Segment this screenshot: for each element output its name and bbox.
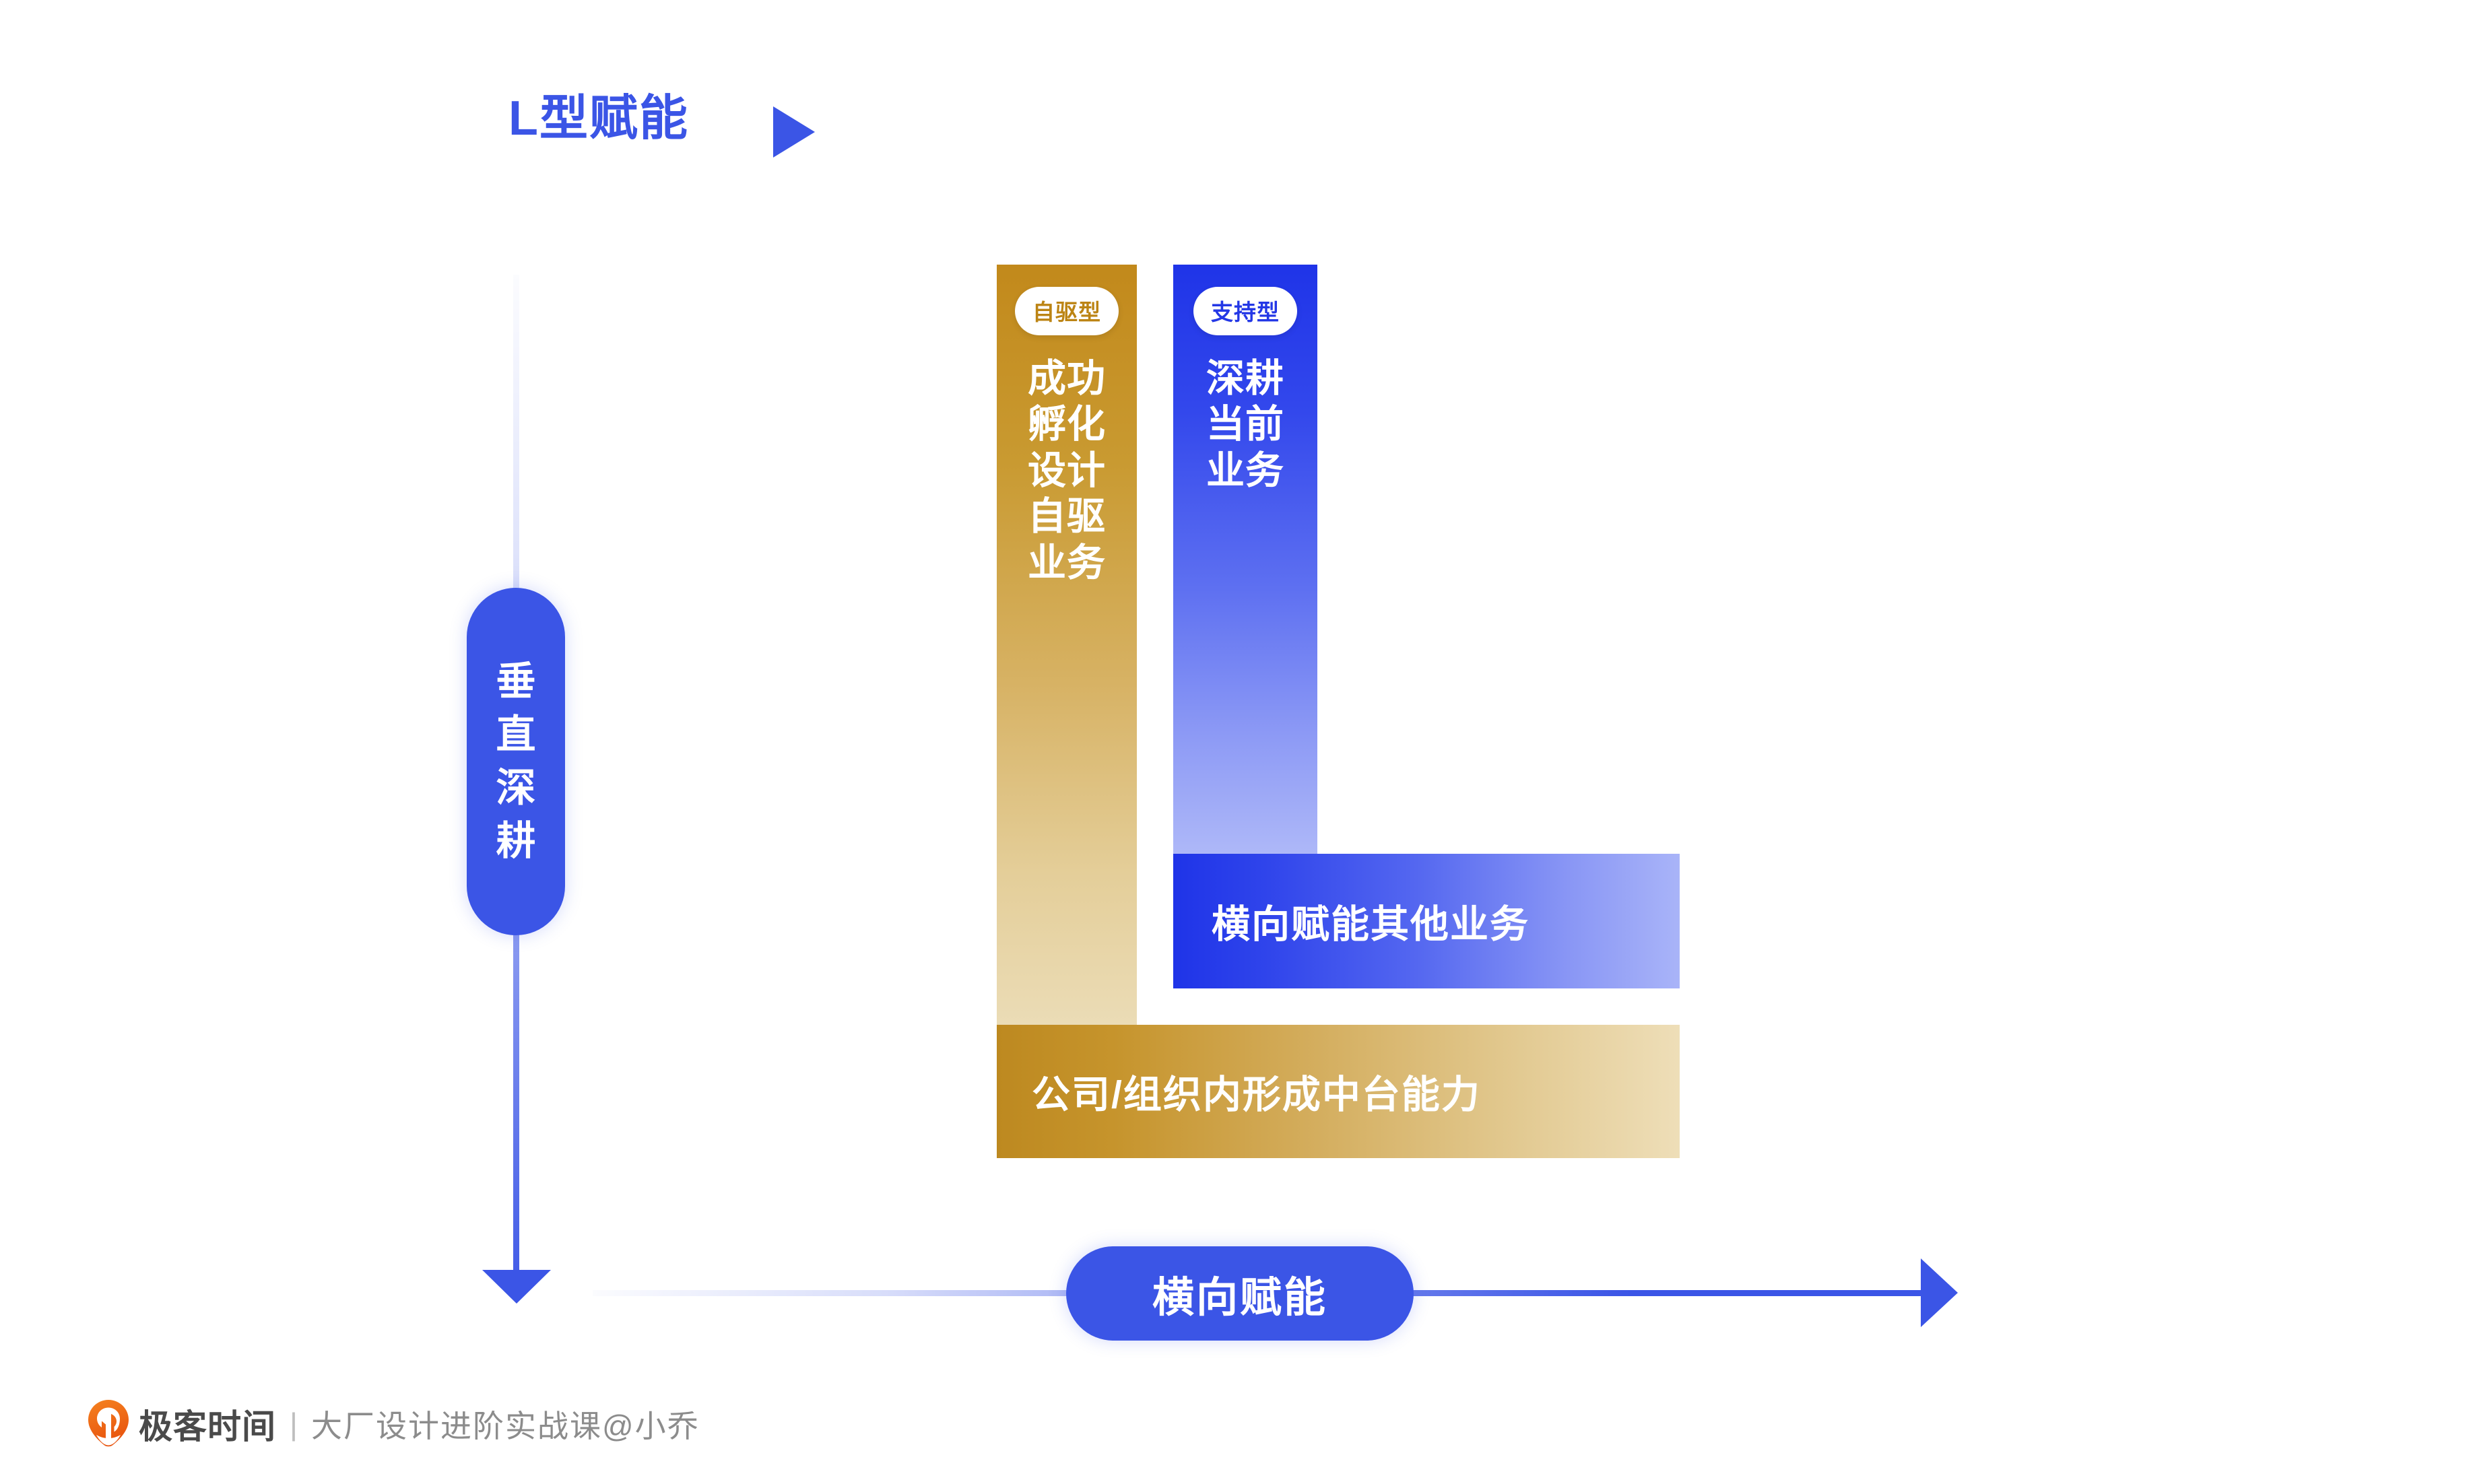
column-text-line: 成功 [1028,356,1106,401]
column-self-driven-text: 成功 孵化 设计 自驱 业务 [1028,356,1106,586]
horizontal-axis-label: 横向赋能 [1152,1263,1327,1324]
column-text-line: 孵化 [1028,401,1106,447]
column-supportive-text: 深耕 当前 业务 [1206,356,1284,494]
vertical-axis-label-char: 直 [496,708,535,762]
horizontal-axis-label-pill: 横向赋能 [1066,1246,1414,1341]
vertical-axis-label-char: 耕 [496,815,535,868]
footer: 极客时间 | 大厂设计进阶实战课@小乔 [88,1399,700,1449]
bar-middle-platform: 公司/组织内形成中台能力 [997,1025,1680,1158]
footer-separator: | [290,1406,298,1442]
vertical-axis-label: 垂 直 深 耕 [496,655,535,868]
column-text-line: 当前 [1206,401,1284,447]
column-text-line: 自驱 [1028,494,1106,539]
bar-horizontal-enablement: 横向赋能其他业务 [1173,854,1680,988]
footer-course-name: 大厂设计进阶实战课@小乔 [311,1402,700,1446]
vertical-axis-label-char: 垂 [496,655,535,708]
vertical-axis-label-pill: 垂 直 深 耕 [467,588,565,935]
column-text-line: 业务 [1206,448,1284,494]
column-supportive: 支持型 深耕 当前 业务 [1173,265,1317,854]
footer-brand: 极客时间 [139,1400,276,1448]
geekbang-pin-logo [88,1399,129,1449]
column-text-line: 设计 [1028,448,1106,494]
bar-label: 横向赋能其他业务 [1212,893,1529,949]
status-badge: 支持型 [1193,287,1297,335]
bar-label: 公司/组织内形成中台能力 [1032,1064,1481,1119]
column-text-line: 深耕 [1206,356,1284,401]
status-badge: 自驱型 [1015,287,1119,335]
page-title: L型赋能 [508,94,689,143]
column-self-driven: 自驱型 成功 孵化 设计 自驱 业务 [997,265,1137,1025]
column-text-line: 业务 [1028,540,1106,586]
vertical-axis-label-char: 深 [496,762,535,815]
triangle-down-icon [482,1270,551,1304]
slide-canvas: L型赋能 垂 直 深 耕 横向赋能 自驱型 成功 孵化 设计 自驱 业务 支持型… [0,0,2469,1484]
triangle-right-icon [773,106,815,158]
triangle-right-icon [1921,1258,1958,1327]
